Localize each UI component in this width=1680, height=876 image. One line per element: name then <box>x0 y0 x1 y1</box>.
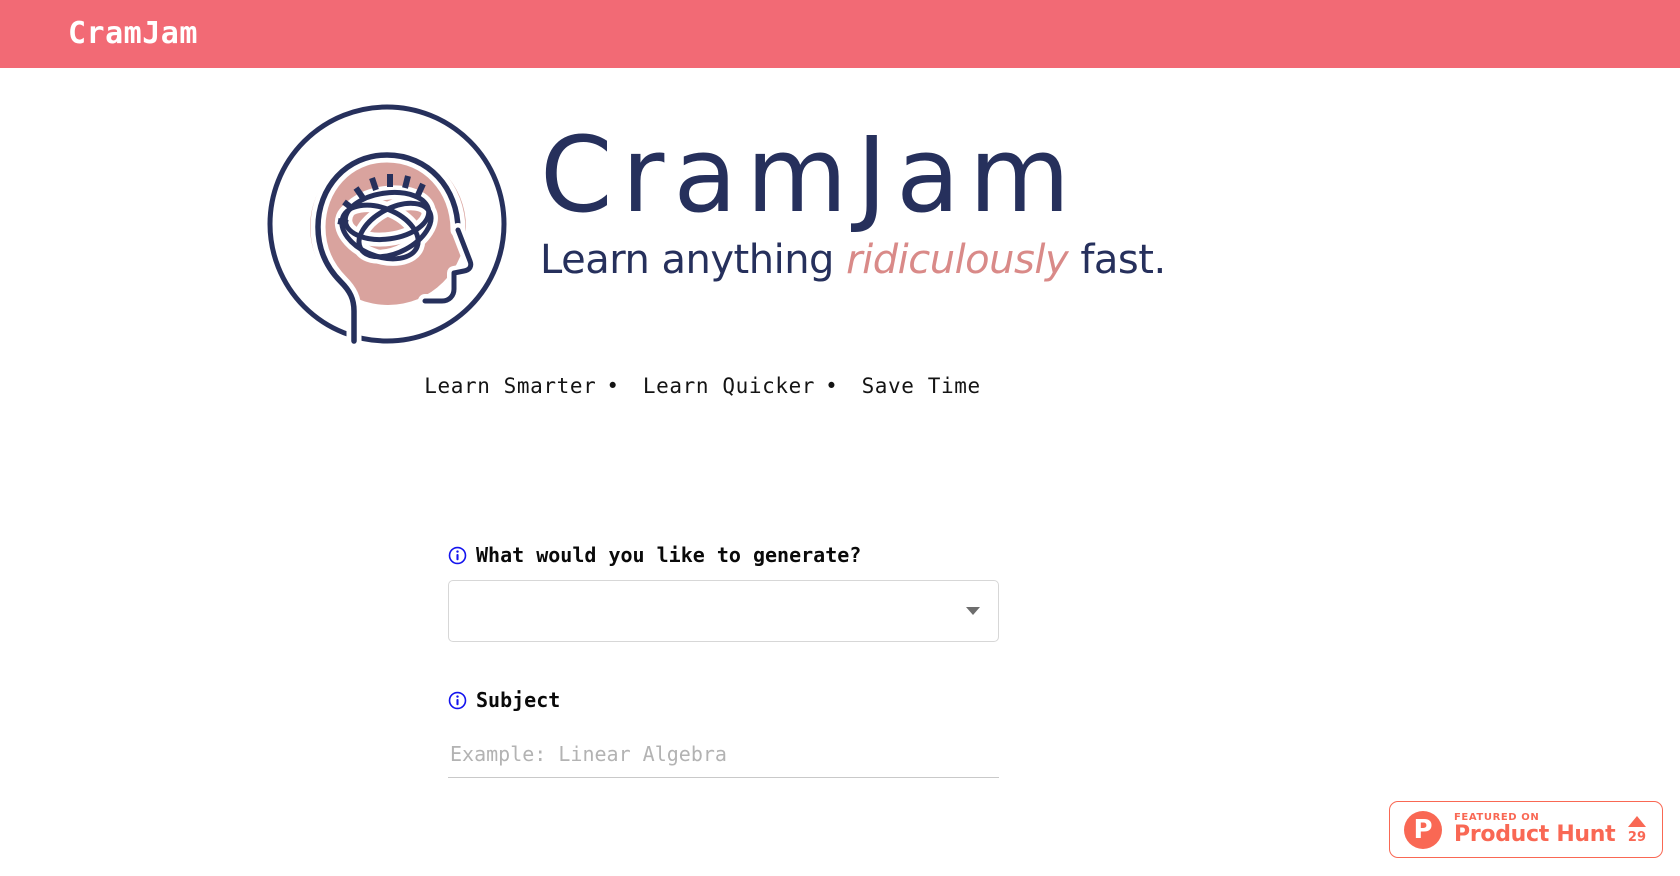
pillar-1: Learn Smarter <box>424 374 596 398</box>
pillar-separator-1: • <box>596 374 629 398</box>
generate-field-label: What would you like to generate? <box>448 545 1000 565</box>
top-header-bar: CramJam <box>0 0 1680 68</box>
product-hunt-votes[interactable]: 29 <box>1628 816 1646 844</box>
info-circle-icon[interactable] <box>448 691 467 710</box>
pillar-3: Save Time <box>862 374 981 398</box>
logo-lockup: CramJam Learn anything ridiculously fast… <box>262 99 1166 349</box>
subject-input[interactable] <box>448 738 999 778</box>
product-hunt-badge[interactable]: P FEATURED ON Product Hunt 29 <box>1389 801 1663 858</box>
tagline: Learn anything ridiculously fast. <box>540 237 1166 283</box>
product-hunt-text-block: FEATURED ON Product Hunt <box>1454 812 1615 848</box>
value-pillars: Learn Smarter• Learn Quicker• Save Time <box>0 374 1405 398</box>
upvote-triangle-icon[interactable] <box>1628 816 1646 827</box>
product-hunt-vote-count: 29 <box>1628 831 1646 844</box>
brand-title[interactable]: CramJam <box>68 19 198 49</box>
wordmark-text: CramJam <box>540 119 1166 231</box>
subject-label-text: Subject <box>476 690 560 710</box>
tagline-prefix: Learn anything <box>540 237 846 283</box>
subject-field-label: Subject <box>448 690 1000 710</box>
generation-form: What would you like to generate? Subject <box>448 545 1000 778</box>
generate-label-text: What would you like to generate? <box>476 545 861 565</box>
tagline-accent: ridiculously <box>846 237 1068 283</box>
product-hunt-logo-icon: P <box>1404 811 1442 849</box>
product-hunt-name: Product Hunt <box>1454 823 1615 848</box>
pillar-2: Learn Quicker <box>643 374 815 398</box>
subject-field-group: Subject <box>448 690 1000 778</box>
tagline-suffix: fast. <box>1068 237 1166 283</box>
logo-text-block: CramJam Learn anything ridiculously fast… <box>540 99 1166 283</box>
info-circle-icon[interactable] <box>448 546 467 565</box>
pillar-separator-2: • <box>815 374 848 398</box>
chevron-down-icon[interactable] <box>966 607 980 615</box>
head-brain-knot-logo-icon <box>262 99 512 349</box>
generate-type-select[interactable] <box>448 580 999 642</box>
hero-section: CramJam Learn anything ridiculously fast… <box>0 68 1680 448</box>
